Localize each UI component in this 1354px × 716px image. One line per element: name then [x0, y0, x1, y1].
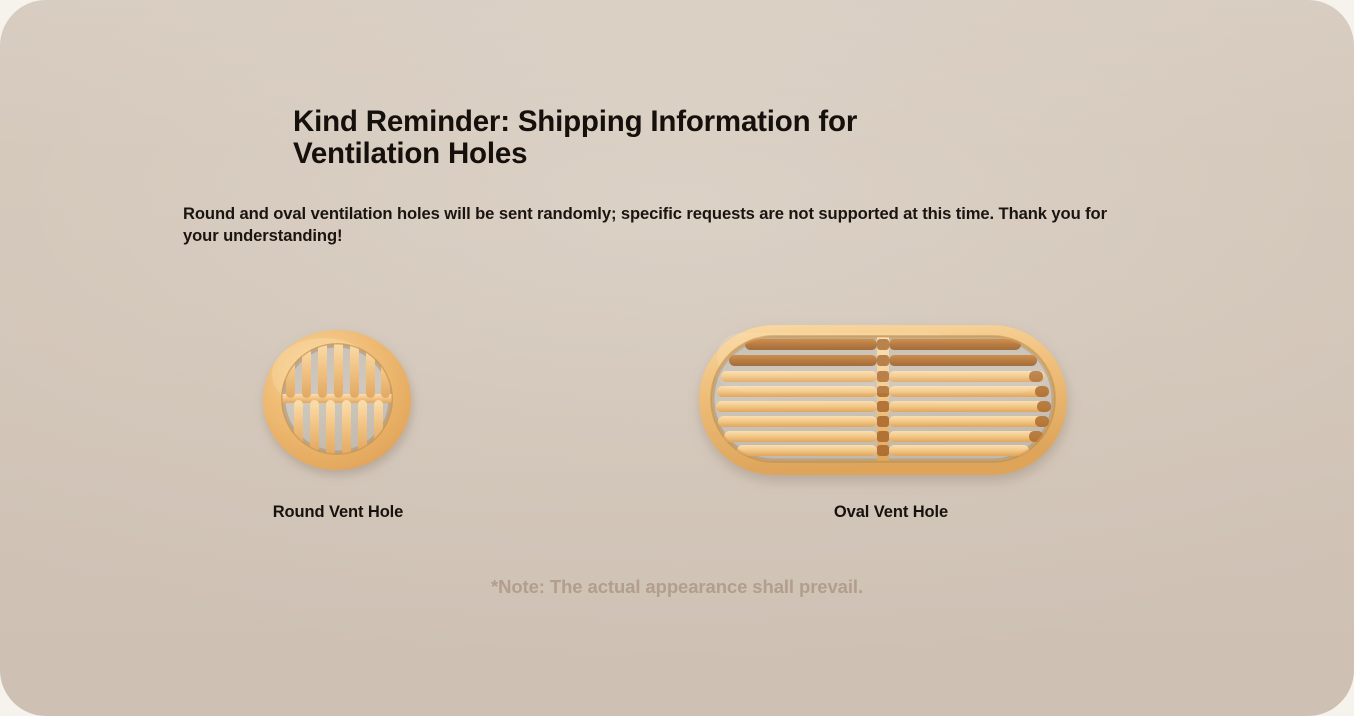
oval-vent-caption: Oval Vent Hole: [763, 503, 1019, 522]
round-vent-caption: Round Vent Hole: [213, 503, 463, 522]
oval-vent-illustration: [699, 323, 1067, 479]
oval-vent-icon: [699, 323, 1067, 479]
round-vent-icon: [262, 328, 414, 474]
notice-panel: Kind Reminder: Shipping Information for …: [0, 0, 1354, 716]
banner-image: Kind Reminder: Shipping Information for …: [0, 0, 1354, 716]
round-vent-illustration: [262, 328, 414, 474]
page-title: Kind Reminder: Shipping Information for …: [293, 106, 933, 169]
disclaimer-note: *Note: The actual appearance shall preva…: [277, 576, 1077, 598]
notice-description: Round and oval ventilation holes will be…: [183, 203, 1128, 247]
